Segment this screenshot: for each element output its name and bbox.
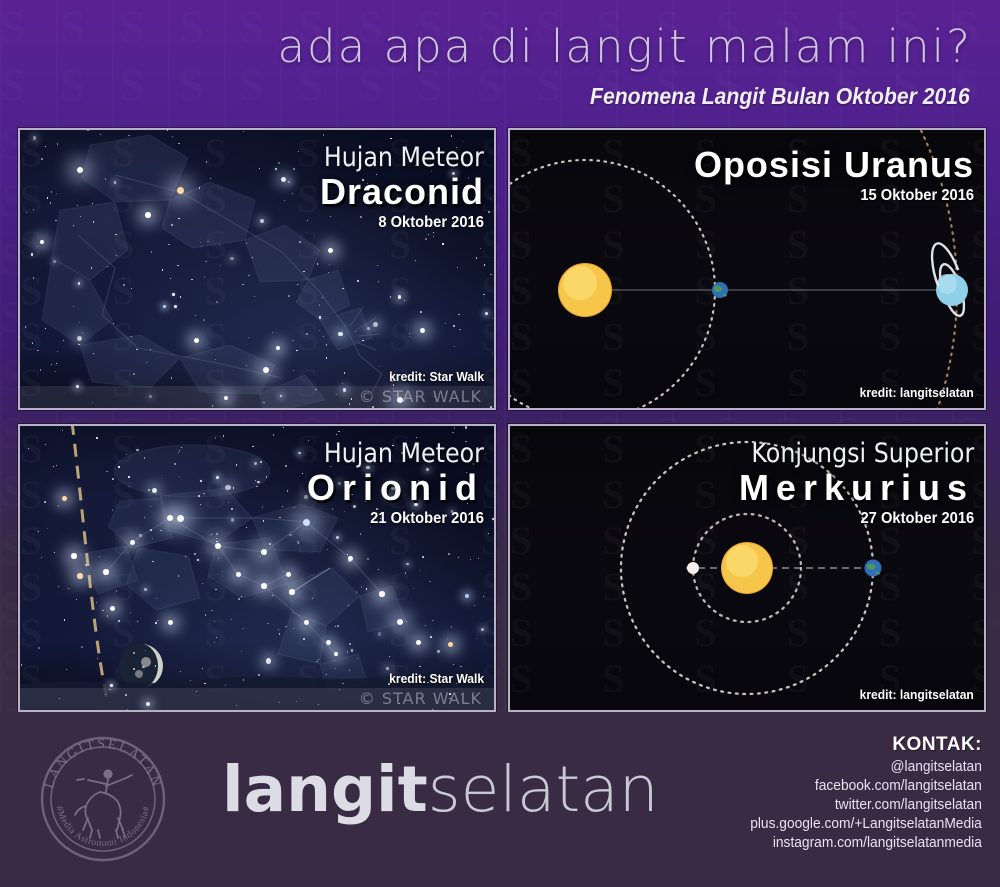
star	[85, 564, 86, 565]
star	[152, 538, 153, 539]
star	[216, 541, 218, 543]
panel-heading-merkurius: Konjungsi Superior Merkurius 27 Oktober …	[721, 440, 974, 527]
star	[390, 138, 391, 139]
star	[326, 640, 331, 645]
star	[246, 365, 247, 366]
starwalk-watermark-bar: © STAR WALK	[20, 688, 494, 710]
star	[293, 370, 294, 371]
star	[258, 674, 259, 675]
earth-orbit-path	[510, 160, 715, 408]
star	[248, 275, 249, 276]
star	[178, 309, 179, 310]
panel-heading-line1: Konjungsi Superior	[751, 440, 974, 467]
star	[488, 211, 490, 213]
star	[293, 628, 294, 629]
panel-heading-line1: Hujan Meteor	[324, 440, 484, 467]
star	[448, 553, 450, 555]
bright-star	[328, 248, 333, 253]
star	[204, 683, 205, 684]
star	[152, 561, 153, 562]
star	[155, 622, 157, 624]
star	[318, 659, 319, 660]
star	[225, 684, 227, 686]
star	[278, 162, 279, 163]
star	[329, 264, 330, 265]
star	[79, 322, 80, 323]
star	[437, 650, 439, 652]
panel-heading-line1: Oposisi Uranus	[694, 147, 974, 183]
contact-block: KONTAK: @langitselatan facebook.com/lang…	[738, 734, 982, 851]
bright-star	[167, 515, 173, 521]
star	[366, 588, 368, 590]
star	[231, 508, 232, 509]
star	[484, 264, 485, 265]
star	[238, 598, 240, 600]
star	[404, 300, 405, 301]
star	[105, 178, 106, 179]
star	[38, 647, 39, 648]
star	[142, 666, 145, 669]
bright-star	[261, 583, 267, 589]
bright-star	[215, 543, 221, 549]
star	[285, 465, 287, 467]
star	[338, 431, 339, 432]
star	[216, 476, 219, 479]
star	[260, 219, 264, 223]
star	[116, 590, 118, 592]
star	[174, 305, 176, 307]
star	[150, 506, 151, 507]
star	[215, 359, 216, 360]
star	[128, 135, 130, 137]
star	[256, 486, 257, 487]
star	[361, 586, 362, 587]
star	[151, 251, 152, 252]
star	[194, 553, 195, 554]
star	[40, 369, 41, 370]
star	[133, 373, 135, 375]
logo-bottom-text: #Media Astronomi Indonesia#	[54, 805, 153, 849]
page-title: ada apa di langit malam ini?	[277, 20, 972, 73]
star	[492, 518, 494, 520]
star	[231, 619, 232, 620]
star	[254, 296, 255, 297]
star	[454, 427, 455, 428]
star	[465, 594, 469, 598]
star	[102, 610, 103, 611]
star	[44, 501, 46, 503]
starwalk-watermark-text: © STAR WALK	[359, 689, 482, 708]
star	[243, 628, 244, 629]
bright-star	[397, 619, 403, 625]
star	[87, 129, 89, 131]
panel-heading-line2: Draconid	[302, 174, 484, 210]
star	[78, 344, 80, 346]
bright-star	[103, 569, 109, 575]
star	[131, 336, 132, 337]
star	[272, 332, 273, 333]
star	[458, 314, 459, 315]
bright-star	[416, 640, 421, 645]
star	[259, 168, 260, 169]
star	[31, 253, 33, 255]
star	[78, 282, 81, 285]
star	[262, 506, 264, 508]
moon-body	[119, 644, 163, 688]
star	[287, 490, 288, 491]
mercury-body	[687, 562, 699, 574]
star	[174, 463, 176, 465]
star	[442, 243, 443, 244]
panel-date: 8 Oktober 2016	[317, 215, 484, 231]
star	[214, 642, 215, 643]
star	[362, 340, 363, 341]
star	[218, 558, 219, 559]
star	[430, 636, 432, 638]
star	[118, 620, 120, 622]
star	[279, 517, 280, 518]
star	[420, 311, 422, 313]
star	[415, 260, 416, 261]
bright-star	[145, 212, 151, 218]
bright-star	[236, 572, 241, 577]
star	[54, 552, 55, 553]
star	[128, 476, 129, 477]
star	[319, 304, 320, 305]
star	[144, 588, 147, 591]
star	[145, 650, 146, 651]
sun-body	[558, 263, 612, 317]
star	[425, 238, 427, 240]
star	[63, 340, 64, 341]
panel-heading-uranus: Oposisi Uranus 15 Oktober 2016	[694, 144, 974, 204]
star	[490, 274, 492, 276]
panel-date: 27 Oktober 2016	[741, 511, 974, 527]
star	[260, 461, 261, 462]
langitselatan-logo[interactable]: LANGITSELATAN #Media Astronomi Indonesia…	[38, 734, 168, 864]
panel-credit-draconid: kredit: Star Walk	[389, 369, 484, 384]
sagittarius-centaur-icon	[75, 769, 132, 838]
panel-heading-draconid: Hujan Meteor Draconid 8 Oktober 2016	[302, 144, 484, 231]
sun-body	[721, 542, 773, 594]
star	[483, 294, 484, 295]
star	[490, 198, 491, 199]
bright-star	[379, 591, 385, 597]
star	[269, 543, 271, 545]
star	[45, 328, 46, 329]
star	[233, 487, 235, 489]
panel-date: 15 Oktober 2016	[716, 188, 974, 204]
star	[33, 136, 36, 139]
star	[148, 489, 150, 491]
star	[299, 241, 301, 243]
panel-uranus[interactable]: S S S S S S S S S S S S S S S S S S S S …	[508, 128, 986, 410]
star	[216, 301, 218, 303]
star	[25, 326, 26, 327]
panel-date: 21 Oktober 2016	[317, 511, 484, 527]
star	[81, 646, 83, 648]
page-subtitle: Fenomena Langit Bulan Oktober 2016	[590, 83, 970, 110]
bright-star	[177, 187, 184, 194]
star	[139, 534, 142, 537]
poster-footer: LANGITSELATAN #Media Astronomi Indonesia…	[0, 712, 1000, 887]
star	[288, 295, 290, 297]
star	[454, 346, 455, 347]
star	[181, 447, 182, 448]
bright-star	[168, 620, 173, 625]
star	[303, 638, 305, 640]
star	[137, 621, 138, 622]
panel-draconid[interactable]: S S S S S S S S S S S S S S S S S S S S …	[18, 128, 496, 410]
panel-heading-orionid: Hujan Meteor Orionid 21 Oktober 2016	[302, 440, 484, 527]
panel-credit-uranus: kredit: langitselatan	[860, 385, 974, 400]
star	[285, 626, 287, 628]
star	[433, 236, 434, 237]
star	[349, 643, 351, 645]
star	[433, 232, 434, 233]
star	[56, 193, 57, 194]
bright-star	[263, 367, 269, 373]
star	[231, 518, 234, 521]
star	[351, 649, 353, 651]
star	[179, 476, 180, 477]
star	[96, 437, 98, 439]
star	[172, 136, 173, 137]
poster-header: ada apa di langit malam ini? Fenomena La…	[0, 0, 1000, 120]
earth-body	[712, 282, 728, 298]
star	[457, 267, 458, 268]
star	[357, 658, 358, 659]
earth-body	[865, 560, 882, 577]
panel-heading-line2: Orionid	[302, 470, 484, 506]
contact-handle[interactable]: @langitselatan	[750, 759, 982, 775]
logo-top-text: LANGITSELATAN	[41, 736, 165, 790]
star	[41, 158, 43, 160]
star	[203, 319, 205, 321]
bright-star	[304, 620, 309, 625]
star	[465, 426, 468, 429]
star	[100, 134, 101, 135]
star	[128, 486, 129, 487]
contact-googleplus[interactable]: plus.google.com/+LangitselatanMedia	[750, 816, 982, 832]
bright-star	[194, 338, 199, 343]
panel-merkurius[interactable]: S S S S S S S S S S S S S S S S S S S S …	[508, 424, 986, 712]
star	[476, 257, 477, 258]
star	[273, 434, 274, 435]
bright-star	[348, 556, 353, 561]
bright-star	[289, 589, 295, 595]
star	[266, 476, 267, 477]
star	[161, 478, 162, 479]
star	[425, 625, 426, 626]
star	[80, 216, 81, 217]
star	[336, 434, 337, 435]
bright-star	[71, 553, 77, 559]
star	[485, 453, 486, 454]
star	[356, 591, 357, 592]
star	[458, 557, 459, 558]
star	[33, 209, 34, 210]
bright-star	[110, 606, 115, 611]
brand-wordmark: langitselatan	[222, 758, 659, 821]
star	[406, 563, 409, 566]
star	[180, 296, 181, 297]
star	[378, 632, 381, 635]
star	[216, 533, 218, 535]
star	[178, 143, 179, 144]
star	[476, 638, 477, 639]
star	[53, 260, 56, 263]
star	[453, 325, 454, 326]
star	[347, 554, 348, 555]
panel-heading-line2: Merkurius	[721, 470, 974, 506]
star	[293, 168, 295, 170]
star	[230, 257, 233, 260]
star	[451, 135, 452, 136]
star	[242, 284, 243, 285]
star	[378, 569, 379, 570]
star	[422, 556, 424, 558]
star	[150, 529, 152, 531]
star	[96, 602, 97, 603]
star	[172, 293, 174, 295]
star	[337, 625, 339, 627]
star	[91, 267, 92, 268]
star	[252, 257, 253, 258]
star	[216, 538, 217, 539]
brand-bold: langit	[222, 753, 428, 826]
star	[485, 312, 488, 315]
star	[338, 332, 342, 336]
bright-star	[286, 572, 291, 577]
star	[73, 225, 74, 226]
contact-twitter[interactable]: twitter.com/langitselatan	[750, 797, 982, 813]
star	[41, 557, 42, 558]
panel-credit-orionid: kredit: Star Walk	[389, 671, 484, 686]
starwalk-watermark-bar: © STAR WALK	[20, 386, 494, 408]
ecliptic-line	[72, 426, 108, 704]
brand-light: selatan	[428, 753, 659, 826]
star	[157, 620, 158, 621]
poster-root: SSSSSSSSSSSSSSSSSSSSSSSSSSSSSSSSSSSSSSSS…	[0, 0, 1000, 887]
star	[206, 161, 208, 163]
star	[136, 449, 138, 451]
star	[112, 478, 114, 480]
star	[289, 534, 291, 536]
star	[198, 495, 200, 497]
bright-star	[448, 642, 453, 647]
star	[58, 505, 59, 506]
star	[373, 322, 378, 327]
star	[389, 656, 390, 657]
bright-star	[77, 573, 83, 579]
star	[55, 371, 56, 372]
star	[297, 541, 299, 543]
star	[200, 504, 201, 505]
star	[294, 507, 295, 508]
contact-facebook[interactable]: facebook.com/langitselatan	[750, 778, 982, 794]
sirius-pointer-line	[292, 568, 330, 592]
star	[298, 452, 301, 455]
star	[336, 536, 339, 539]
star	[73, 306, 74, 307]
star	[334, 660, 335, 661]
panel-orionid[interactable]: S S S S S S S S S S S S S S S S S S S S …	[18, 424, 496, 712]
star	[379, 366, 380, 367]
star	[133, 652, 135, 654]
starwalk-watermark-text: © STAR WALK	[359, 387, 482, 406]
bright-star	[62, 496, 67, 501]
contact-instagram[interactable]: instagram.com/langitselatanmedia	[750, 835, 982, 851]
star	[312, 598, 313, 599]
star	[123, 284, 124, 285]
bright-star	[130, 540, 135, 545]
bright-star	[177, 515, 184, 522]
star	[107, 266, 108, 267]
star	[266, 658, 271, 663]
star	[428, 234, 429, 235]
star	[56, 363, 57, 364]
contact-heading: KONTAK:	[738, 734, 982, 756]
star	[163, 305, 166, 308]
panel-credit-merkurius: kredit: langitselatan	[860, 687, 974, 702]
star	[488, 533, 489, 534]
uranus-body	[925, 240, 968, 319]
star	[483, 596, 484, 597]
panel-heading-line1: Hujan Meteor	[324, 144, 484, 171]
star	[118, 466, 119, 467]
bright-star	[420, 328, 425, 333]
star	[284, 571, 285, 572]
star	[191, 279, 192, 280]
star	[133, 668, 135, 670]
